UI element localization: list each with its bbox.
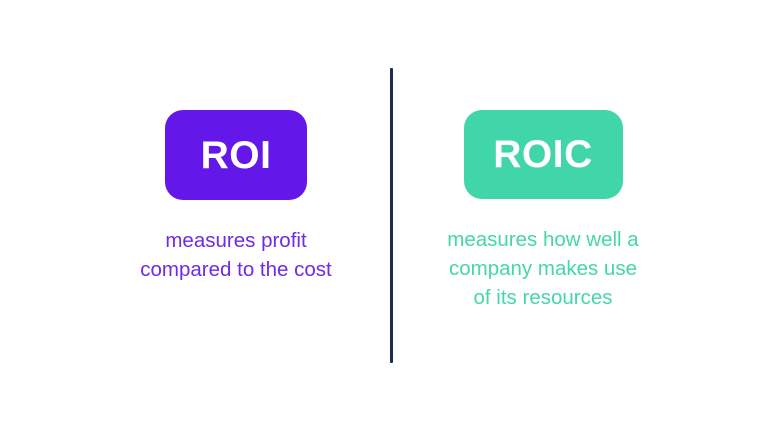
- comparison-slide: ROI measures profit compared to the cost…: [0, 0, 768, 432]
- roic-caption: measures how well a company makes use of…: [428, 225, 658, 312]
- vertical-divider: [390, 68, 393, 363]
- roic-label-chip: ROIC: [464, 110, 623, 199]
- comparison-column-roic: ROIC measures how well a company makes u…: [413, 110, 673, 312]
- roi-label-chip: ROI: [165, 110, 307, 200]
- comparison-column-roi: ROI measures profit compared to the cost: [106, 110, 366, 284]
- roic-chip-label: ROIC: [493, 135, 593, 174]
- roi-chip-label: ROI: [201, 136, 272, 175]
- roi-caption: measures profit compared to the cost: [106, 226, 366, 284]
